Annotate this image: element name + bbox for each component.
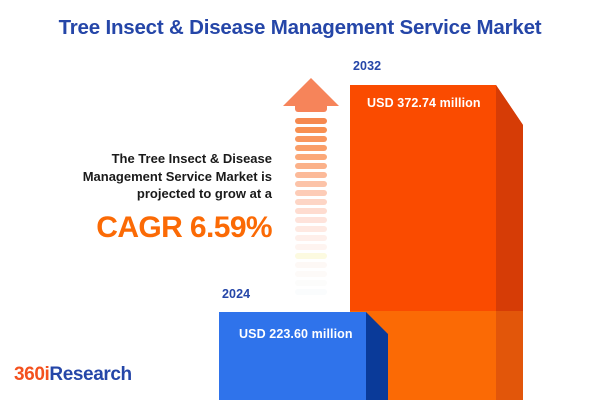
- bar-value-label-2024: USD 223.60 million: [239, 327, 353, 341]
- arrow-stripe: [295, 145, 327, 151]
- callout-line-1: The Tree Insect & Disease: [30, 150, 272, 168]
- arrow-stripe: [295, 217, 327, 223]
- cagr-callout: The Tree Insect & Disease Management Ser…: [30, 150, 272, 245]
- cagr-value: CAGR 6.59%: [30, 211, 272, 245]
- bar-side-face-lower-2032: [496, 311, 523, 400]
- infographic-canvas: Tree Insect & Disease Management Service…: [0, 0, 600, 400]
- arrow-stripe: [295, 118, 327, 124]
- bar-year-label-2024: 2024: [222, 287, 250, 301]
- growth-arrow-icon: [283, 78, 339, 300]
- arrow-stripe: [295, 154, 327, 160]
- arrow-stripe: [295, 190, 327, 196]
- callout-description: The Tree Insect & Disease Management Ser…: [30, 150, 272, 203]
- arrow-stripe: [295, 136, 327, 142]
- arrow-stripe: [295, 235, 327, 241]
- callout-line-2: Management Service Market is: [30, 168, 272, 186]
- arrow-stripe: [295, 244, 327, 250]
- arrow-stripe: [295, 262, 327, 268]
- page-title: Tree Insect & Disease Management Service…: [0, 16, 600, 40]
- arrow-stripe: [295, 289, 327, 295]
- arrow-stripe: [295, 172, 327, 178]
- logo-word-text: Research: [49, 364, 131, 385]
- bar-year-label-2032: 2032: [353, 59, 381, 73]
- bar-front-face-2024[interactable]: [219, 312, 366, 400]
- arrow-stripe: [295, 199, 327, 205]
- arrow-stripe: [295, 208, 327, 214]
- company-logo[interactable]: 360iResearch: [14, 364, 132, 386]
- arrow-stripe: [295, 271, 327, 277]
- arrow-head-icon: [283, 78, 339, 106]
- arrow-stripe: [295, 127, 327, 133]
- arrow-stripe: [295, 226, 327, 232]
- bar-side-face-2032: [496, 85, 523, 311]
- arrow-stripe: [295, 163, 327, 169]
- arrow-stripe: [295, 280, 327, 286]
- arrow-stripe: [295, 253, 327, 259]
- bar-value-label-2032: USD 372.74 million: [367, 96, 481, 110]
- callout-line-3: projected to grow at a: [30, 185, 272, 203]
- arrow-stripe: [295, 181, 327, 187]
- arrow-neck: [295, 106, 327, 112]
- logo-mark-text: 360i: [14, 364, 49, 385]
